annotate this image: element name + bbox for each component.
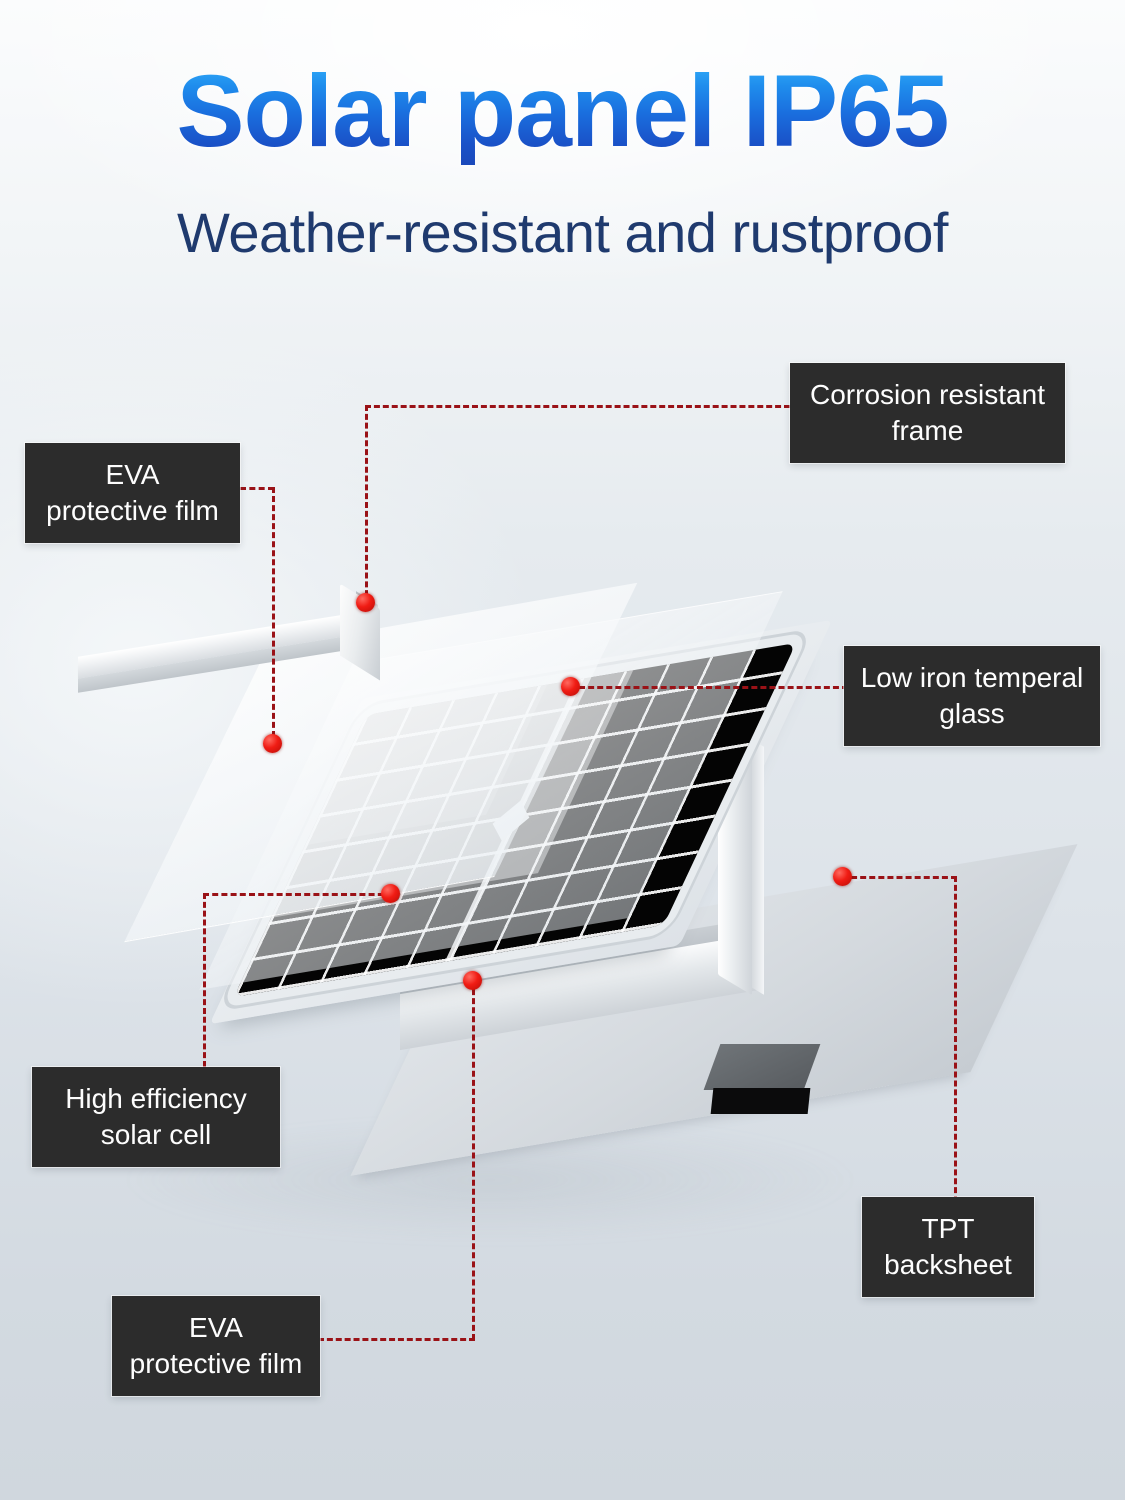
callout-line-2: protective film	[128, 1346, 304, 1382]
callout-line-2: backsheet	[878, 1247, 1018, 1283]
callout-high-efficiency-solar-cell[interactable]: High efficiency solar cell	[32, 1067, 280, 1167]
marker-dot-eva-top	[263, 734, 282, 753]
product-infographic: Solar panel IP65 Weather-resistant and r…	[0, 0, 1125, 1500]
leader-cell-vertical	[203, 893, 206, 1067]
leader-frame-horizontal	[365, 405, 790, 408]
leader-tpt-horizontal	[842, 876, 957, 879]
callout-line-1: Low iron temperal	[860, 660, 1084, 696]
leader-eva-bottom-vertical	[472, 980, 475, 1340]
marker-dot-solar-cell	[381, 884, 400, 903]
callout-line-1: EVA	[41, 457, 224, 493]
callout-line-1: EVA	[128, 1310, 304, 1346]
marker-dot-glass	[561, 677, 580, 696]
callout-line-2: solar cell	[48, 1117, 264, 1153]
callout-line-2: frame	[806, 413, 1049, 449]
leader-eva-top-horizontal	[240, 487, 274, 490]
callout-line-2: protective film	[41, 493, 224, 529]
callout-line-1: TPT	[878, 1211, 1018, 1247]
callout-tpt-backsheet[interactable]: TPT backsheet	[862, 1197, 1034, 1297]
leader-eva-bottom-horizontal	[318, 1338, 475, 1341]
callout-low-iron-temperal-glass[interactable]: Low iron temperal glass	[844, 646, 1100, 746]
callout-eva-protective-film-bottom[interactable]: EVA protective film	[112, 1296, 320, 1396]
callout-line-1: Corrosion resistant	[806, 377, 1049, 413]
junction-box-shadow	[711, 1088, 811, 1114]
leader-tpt-vertical	[954, 876, 957, 1202]
leader-frame-vertical	[365, 405, 368, 605]
leader-cell-horizontal	[203, 893, 393, 896]
callout-corrosion-resistant-frame[interactable]: Corrosion resistant frame	[790, 363, 1065, 463]
callout-eva-protective-film-top[interactable]: EVA protective film	[25, 443, 240, 543]
marker-dot-tpt	[833, 867, 852, 886]
leader-eva-top-vertical	[272, 487, 275, 746]
marker-dot-eva-bottom	[463, 971, 482, 990]
callout-line-2: glass	[860, 696, 1084, 732]
leader-glass-horizontal	[570, 686, 848, 689]
marker-dot-frame	[356, 593, 375, 612]
junction-box	[704, 1044, 821, 1090]
callout-line-1: High efficiency	[48, 1081, 264, 1117]
